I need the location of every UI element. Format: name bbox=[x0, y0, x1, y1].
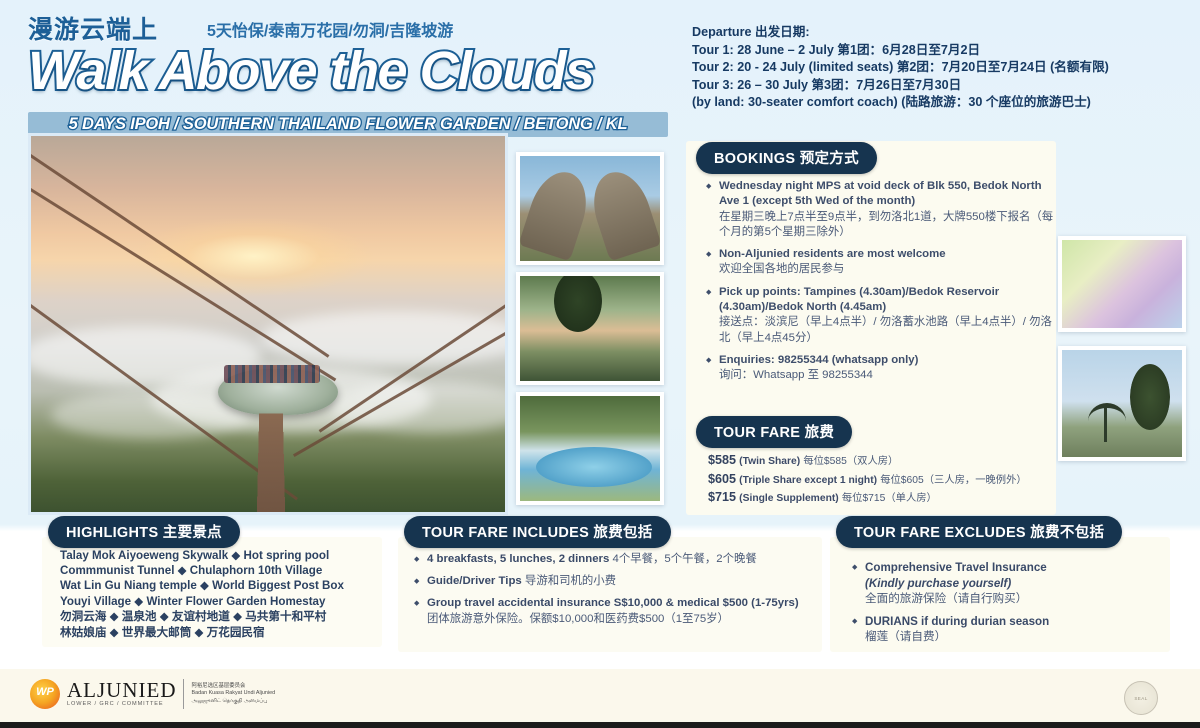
include-2-en: Group travel accidental insurance S$10,0… bbox=[427, 597, 799, 609]
excludes-list: Comprehensive Travel Insurance (Kindly p… bbox=[852, 560, 1164, 652]
fare-row: $715 (Single Supplement) 每位$715（单人房） bbox=[708, 489, 1048, 508]
highlights-body: Talay Mok Aiyoeweng Skywalk ◆ Hot spring… bbox=[60, 548, 378, 641]
departure-tour-3: Tour 3: 26 – 30 July 第3团：7月26日至7月30日 bbox=[692, 77, 1192, 95]
logo-alt-ms: Badan Kuasa Rakyat Undi Aljunied bbox=[191, 690, 275, 697]
logo-tagline: LOWER / GRC / COMMITTEE bbox=[67, 700, 176, 708]
include-2-cn: 团体旅游意外保险。保额$10,000和医药费$500（1至75岁） bbox=[427, 613, 729, 625]
fare-0-type: (Twin Share) bbox=[739, 456, 800, 467]
list-item: Guide/Driver Tips 导游和司机的小费 bbox=[414, 574, 814, 589]
fare-row: $585 (Twin Share) 每位$585（双人房） bbox=[708, 452, 1048, 471]
fare-row: $605 (Triple Share except 1 night) 每位$60… bbox=[708, 471, 1048, 490]
photo-hot-spring-pool bbox=[516, 392, 664, 505]
hero-skywalk-photo bbox=[28, 133, 508, 515]
bookings-list: Wednesday night MPS at void deck of Blk … bbox=[706, 179, 1056, 391]
wp-hammer-icon bbox=[30, 679, 60, 709]
booking-3-en[interactable]: Enquiries: 98255344 (whatsapp only) bbox=[719, 354, 918, 366]
official-seal-icon: SEAL bbox=[1124, 681, 1158, 715]
bookings-heading-cn: 预定方式 bbox=[800, 151, 859, 167]
skywalk-path bbox=[257, 413, 286, 515]
logo-alt-cn: 阿裕尼选区基层委员会 bbox=[191, 683, 275, 690]
exclude-0-cn: 全面的旅游保险（请自行购买） bbox=[865, 592, 1027, 605]
highlights-en-4: Youyi Village ◆ Winter Flower Garden Hom… bbox=[60, 594, 378, 609]
highlights-cn-2: 林姑娘庙 ◆ 世界最大邮筒 ◆ 万花园民宿 bbox=[60, 625, 378, 641]
skywalk-crowd bbox=[224, 365, 320, 383]
exclude-0-note: (Kindly purchase yourself) bbox=[865, 577, 1011, 590]
booking-2-en: Pick up points: Tampines (4.30am)/Bedok … bbox=[719, 286, 999, 313]
booking-3-cn[interactable]: 询问：Whatsapp 至 98255344 bbox=[719, 369, 873, 381]
booking-2-cn: 接送点：淡滨尼（早上4点半）/ 勿洛蓄水池路（早上4点半）/ 勿洛北（早上4点4… bbox=[719, 316, 1052, 343]
include-0-en: 4 breakfasts, 5 lunches, 2 dinners bbox=[427, 553, 609, 565]
tour-fare-price-list: $585 (Twin Share) 每位$585（双人房） $605 (Trip… bbox=[708, 452, 1048, 508]
fare-2-price: $715 bbox=[708, 490, 736, 504]
includes-heading: TOUR FARE INCLUDES 旅费包括 bbox=[404, 516, 671, 548]
bookings-heading-en: BOOKINGS bbox=[714, 151, 795, 167]
departure-label: Departure 出发日期: bbox=[692, 24, 1192, 42]
departure-block: Departure 出发日期: Tour 1: 28 June – 2 July… bbox=[692, 24, 1192, 112]
highlights-heading-cn: 主要景点 bbox=[163, 525, 222, 541]
tour-fare-heading: TOUR FARE 旅费 bbox=[696, 416, 852, 448]
logo-alt-ta: அலுஜுனிட் தொகுதி அமைப்பு bbox=[191, 698, 275, 705]
include-1-cn: 导游和司机的小费 bbox=[525, 575, 616, 587]
excludes-heading-en: TOUR FARE EXCLUDES bbox=[854, 525, 1026, 541]
include-0-cn: 4个早餐，5个午餐，2个晚餐 bbox=[613, 553, 757, 565]
aljunied-logo: ALJUNIED LOWER / GRC / COMMITTEE 阿裕尼选区基层… bbox=[30, 679, 275, 709]
chinese-subtitle: 5天怡保/泰南万花园/勿洞/吉隆坡游 bbox=[207, 17, 453, 41]
photo-sunset-tree bbox=[516, 272, 664, 385]
list-item: Wednesday night MPS at void deck of Blk … bbox=[706, 179, 1056, 240]
bookings-heading: BOOKINGS 预定方式 bbox=[696, 142, 877, 174]
includes-heading-cn: 旅费包括 bbox=[593, 525, 652, 541]
list-item: Comprehensive Travel Insurance (Kindly p… bbox=[852, 560, 1164, 607]
page-title: Walk Above the Clouds bbox=[28, 43, 594, 99]
poster-header: 漫游云端上 5天怡保/泰南万花园/勿洞/吉隆坡游 Walk Above the … bbox=[0, 0, 690, 145]
includes-heading-en: TOUR FARE INCLUDES bbox=[422, 525, 589, 541]
highlights-heading-en: HIGHLIGHTS bbox=[66, 525, 158, 541]
photo-heart-rock bbox=[516, 152, 664, 265]
highlights-en-3: Wat Lin Gu Niang temple ◆ World Biggest … bbox=[60, 578, 378, 593]
photo-garden-sculpture bbox=[1058, 346, 1186, 461]
photo-flower-blossom bbox=[1058, 236, 1186, 332]
departure-tour-2: Tour 2: 20 - 24 July (limited seats) 第2团… bbox=[692, 59, 1192, 77]
fare-0-price: $585 bbox=[708, 453, 736, 467]
highlights-heading: HIGHLIGHTS 主要景点 bbox=[48, 516, 240, 548]
fare-2-type: (Single Supplement) bbox=[739, 493, 839, 504]
booking-0-en: Wednesday night MPS at void deck of Blk … bbox=[719, 180, 1042, 207]
booking-0-cn: 在星期三晚上7点半至9点半，到勿洛北1道，大牌550楼下报名（每个月的第5个星期… bbox=[719, 211, 1053, 238]
exclude-0-en: Comprehensive Travel Insurance bbox=[865, 561, 1047, 574]
logo-text-block: ALJUNIED LOWER / GRC / COMMITTEE bbox=[67, 680, 176, 708]
list-item: Group travel accidental insurance S$10,0… bbox=[414, 596, 814, 626]
excludes-heading-cn: 旅费不包括 bbox=[1030, 525, 1104, 541]
logo-name: ALJUNIED bbox=[67, 680, 176, 700]
list-item: 4 breakfasts, 5 lunches, 2 dinners 4个早餐，… bbox=[414, 552, 814, 567]
exclude-1-cn: 榴莲（请自费） bbox=[865, 630, 946, 643]
departure-coach-note: (by land: 30-seater comfort coach) (陆路旅游… bbox=[692, 94, 1192, 112]
list-item[interactable]: Enquiries: 98255344 (whatsapp only) 询问：W… bbox=[706, 353, 1056, 384]
logo-divider bbox=[183, 679, 184, 709]
fare-1-price: $605 bbox=[708, 472, 736, 486]
booking-1-cn: 欢迎全国各地的居民参与 bbox=[719, 263, 844, 275]
fare-1-cn: 每位$605（三人房，一晚例外） bbox=[880, 475, 1026, 486]
departure-tour-1: Tour 1: 28 June – 2 July 第1团：6月28日至7月2日 bbox=[692, 42, 1192, 60]
includes-list: 4 breakfasts, 5 lunches, 2 dinners 4个早餐，… bbox=[414, 552, 814, 634]
list-item: DURIANS if during durian season 榴莲（请自费） bbox=[852, 614, 1164, 645]
highlights-en-2: Commmunist Tunnel ◆ Chulaphorn 10th Vill… bbox=[60, 563, 378, 578]
fare-2-cn: 每位$715（单人房） bbox=[842, 493, 937, 504]
excludes-heading: TOUR FARE EXCLUDES 旅费不包括 bbox=[836, 516, 1122, 548]
list-item: Pick up points: Tampines (4.30am)/Bedok … bbox=[706, 285, 1056, 346]
poster-root: 漫游云端上 5天怡保/泰南万花园/勿洞/吉隆坡游 Walk Above the … bbox=[0, 0, 1200, 728]
highlights-cn-1: 勿洞云海 ◆ 温泉池 ◆ 友谊村地道 ◆ 马共第十和平村 bbox=[60, 609, 378, 625]
exclude-1-en: DURIANS if during durian season bbox=[865, 615, 1049, 628]
highlights-en-1: Talay Mok Aiyoeweng Skywalk ◆ Hot spring… bbox=[60, 548, 378, 563]
list-item: Non-Aljunied residents are most welcome … bbox=[706, 247, 1056, 278]
fare-0-cn: 每位$585（双人房） bbox=[803, 456, 898, 467]
booking-1-en: Non-Aljunied residents are most welcome bbox=[719, 248, 946, 260]
logo-multilingual-block: 阿裕尼选区基层委员会 Badan Kuasa Rakyat Undi Aljun… bbox=[191, 683, 275, 705]
poster-footer: ALJUNIED LOWER / GRC / COMMITTEE 阿裕尼选区基层… bbox=[0, 669, 1200, 728]
tour-fare-heading-cn: 旅费 bbox=[805, 425, 835, 441]
fare-1-type: (Triple Share except 1 night) bbox=[739, 475, 877, 486]
tour-fare-heading-en: TOUR FARE bbox=[714, 425, 800, 441]
include-1-en: Guide/Driver Tips bbox=[427, 575, 522, 587]
